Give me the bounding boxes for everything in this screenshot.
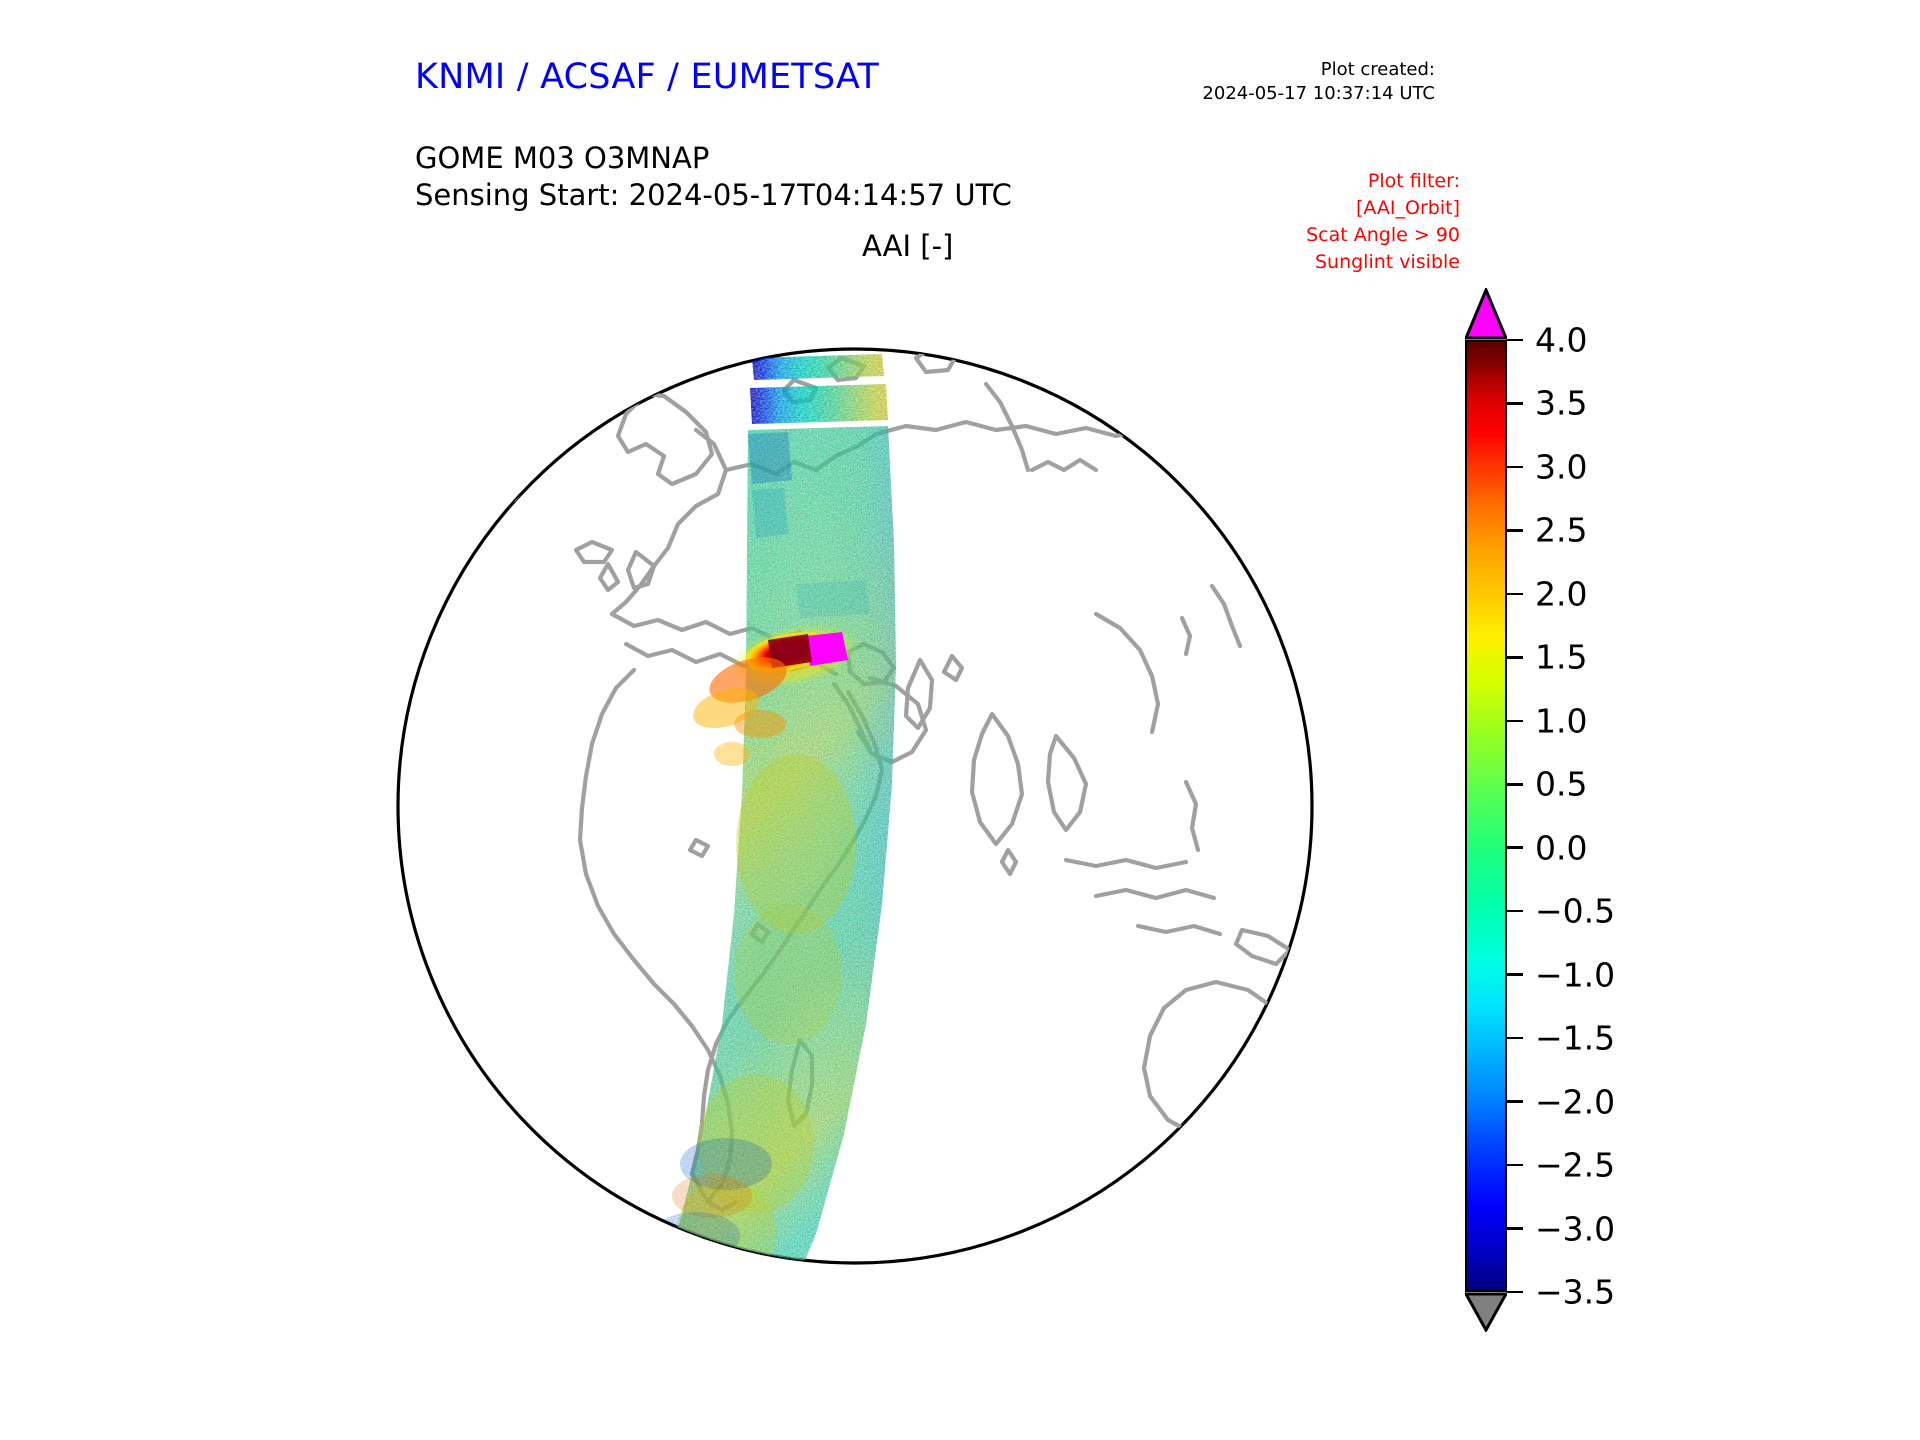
colorbar-tick-label: −3.0 [1535,1209,1615,1248]
agency-title: KNMI / ACSAF / EUMETSAT [415,57,879,97]
colorbar-tick-label: 3.5 [1535,384,1587,423]
quantity-label: AAI [-] [862,229,953,263]
swath-top-rows [750,354,888,424]
plot-created-block: Plot created: 2024-05-17 10:37:14 UTC [1202,58,1435,107]
sensing-start: Sensing Start: 2024-05-17T04:14:57 UTC [415,177,1012,214]
colorbar-tick [1507,1291,1523,1294]
plot-filter-block: Plot filter: [AAI_Orbit] Scat Angle > 90… [1306,168,1460,276]
colorbar-tick-label: 0.5 [1535,765,1587,804]
colorbar-tick [1507,402,1523,405]
colorbar-tick-label: 1.5 [1535,638,1587,677]
plot-filter-scat-angle: Scat Angle > 90 [1306,222,1460,249]
colorbar-tick [1507,529,1523,532]
colorbar-tick [1507,656,1523,659]
colorbar-tick [1507,783,1523,786]
colorbar-tick-label: 3.0 [1535,447,1587,486]
swath-bottom-rows [648,1306,780,1328]
colorbar-tick [1507,593,1523,596]
colorbar-tick-label: −0.5 [1535,892,1615,931]
plot-filter-orbit: [AAI_Orbit] [1306,195,1460,222]
colorbar-over-arrow [1465,288,1507,340]
colorbar-tick-label: −1.0 [1535,955,1615,994]
colorbar-tick [1507,720,1523,723]
plot-filter-title: Plot filter: [1306,168,1460,195]
colorbar-tick-label: 4.0 [1535,321,1587,360]
globe-svg [396,284,1314,1328]
colorbar: 4.03.53.02.52.01.51.00.50.0−0.5−1.0−1.5−… [1447,282,1847,1302]
colorbar-tick [1507,846,1523,849]
colorbar-tick [1507,339,1523,342]
colorbar-tick [1507,1227,1523,1230]
colorbar-tick [1507,973,1523,976]
product-name: GOME M03 O3MNAP [415,140,1012,177]
colorbar-tick-label: −1.5 [1535,1019,1615,1058]
product-title-block: GOME M03 O3MNAP Sensing Start: 2024-05-1… [415,140,1012,214]
colorbar-under-arrow [1465,1292,1507,1332]
colorbar-tick-label: 1.0 [1535,701,1587,740]
colorbar-tick [1507,466,1523,469]
plot-created-time: 2024-05-17 10:37:14 UTC [1202,82,1435,106]
colorbar-tick [1507,1100,1523,1103]
colorbar-tick-label: −2.0 [1535,1082,1615,1121]
colorbar-tick-label: 2.5 [1535,511,1587,550]
colorbar-tick-label: 0.0 [1535,828,1587,867]
colorbar-tick-label: 2.0 [1535,574,1587,613]
globe-map [396,284,1314,1328]
plot-canvas: KNMI / ACSAF / EUMETSAT Plot created: 20… [0,0,1920,1440]
colorbar-tick-label: −3.5 [1535,1273,1615,1312]
colorbar-tick [1507,1164,1523,1167]
colorbar-tick [1507,1037,1523,1040]
colorbar-tick [1507,910,1523,913]
colorbar-tick-label: −2.5 [1535,1146,1615,1185]
colorbar-gradient [1465,340,1507,1292]
plot-filter-sunglint: Sunglint visible [1306,249,1460,276]
plot-created-label: Plot created: [1202,58,1435,82]
